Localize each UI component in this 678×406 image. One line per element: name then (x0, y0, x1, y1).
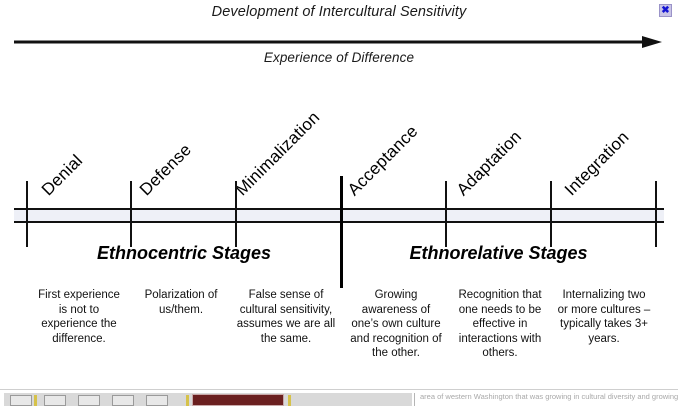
bottom-slide-sliver: area of western Washington that was grow… (0, 383, 678, 406)
group-title-ethnocentric: Ethnocentric Stages (27, 243, 341, 264)
dmis-diagram: ✖ Development of Intercultural Sensitivi… (0, 0, 678, 383)
stage-description-minimalization: False sense of cultural sensitivity, ass… (236, 288, 336, 346)
continuum-axis (0, 180, 678, 246)
strip-divider (0, 389, 678, 390)
axis-line-lower (14, 221, 664, 223)
axis-tick-5 (550, 181, 552, 247)
page-title: Development of Intercultural Sensitivity (0, 4, 678, 20)
axis-line-upper (14, 208, 664, 210)
stage-description-integration: Internalizing two or more cultures – typ… (556, 288, 652, 346)
axis-tick-2 (235, 181, 237, 247)
axis-tick-6 (655, 181, 657, 247)
progression-arrow-icon (14, 36, 662, 48)
group-title-ethnorelative: Ethnorelative Stages (341, 243, 656, 264)
axis-tick-0 (26, 181, 28, 247)
stage-description-row: First experience is not to experience th… (0, 288, 678, 383)
stage-description-defense: Polarization of us/them. (131, 288, 231, 317)
group-heading-row: Ethnocentric Stages Ethnorelative Stages (0, 243, 678, 273)
axis-tick-4 (445, 181, 447, 247)
strip-thumbnail (4, 393, 412, 406)
stage-description-acceptance: Growing awareness of one’s own culture a… (348, 288, 444, 361)
page-subtitle: Experience of Difference (0, 50, 678, 65)
axis-tick-1 (130, 181, 132, 247)
strip-bar (414, 393, 415, 406)
stage-description-denial: First experience is not to experience th… (33, 288, 125, 346)
stage-description-adaptation: Recognition that one needs to be effecti… (449, 288, 551, 361)
strip-caption: area of western Washington that was grow… (420, 392, 678, 401)
